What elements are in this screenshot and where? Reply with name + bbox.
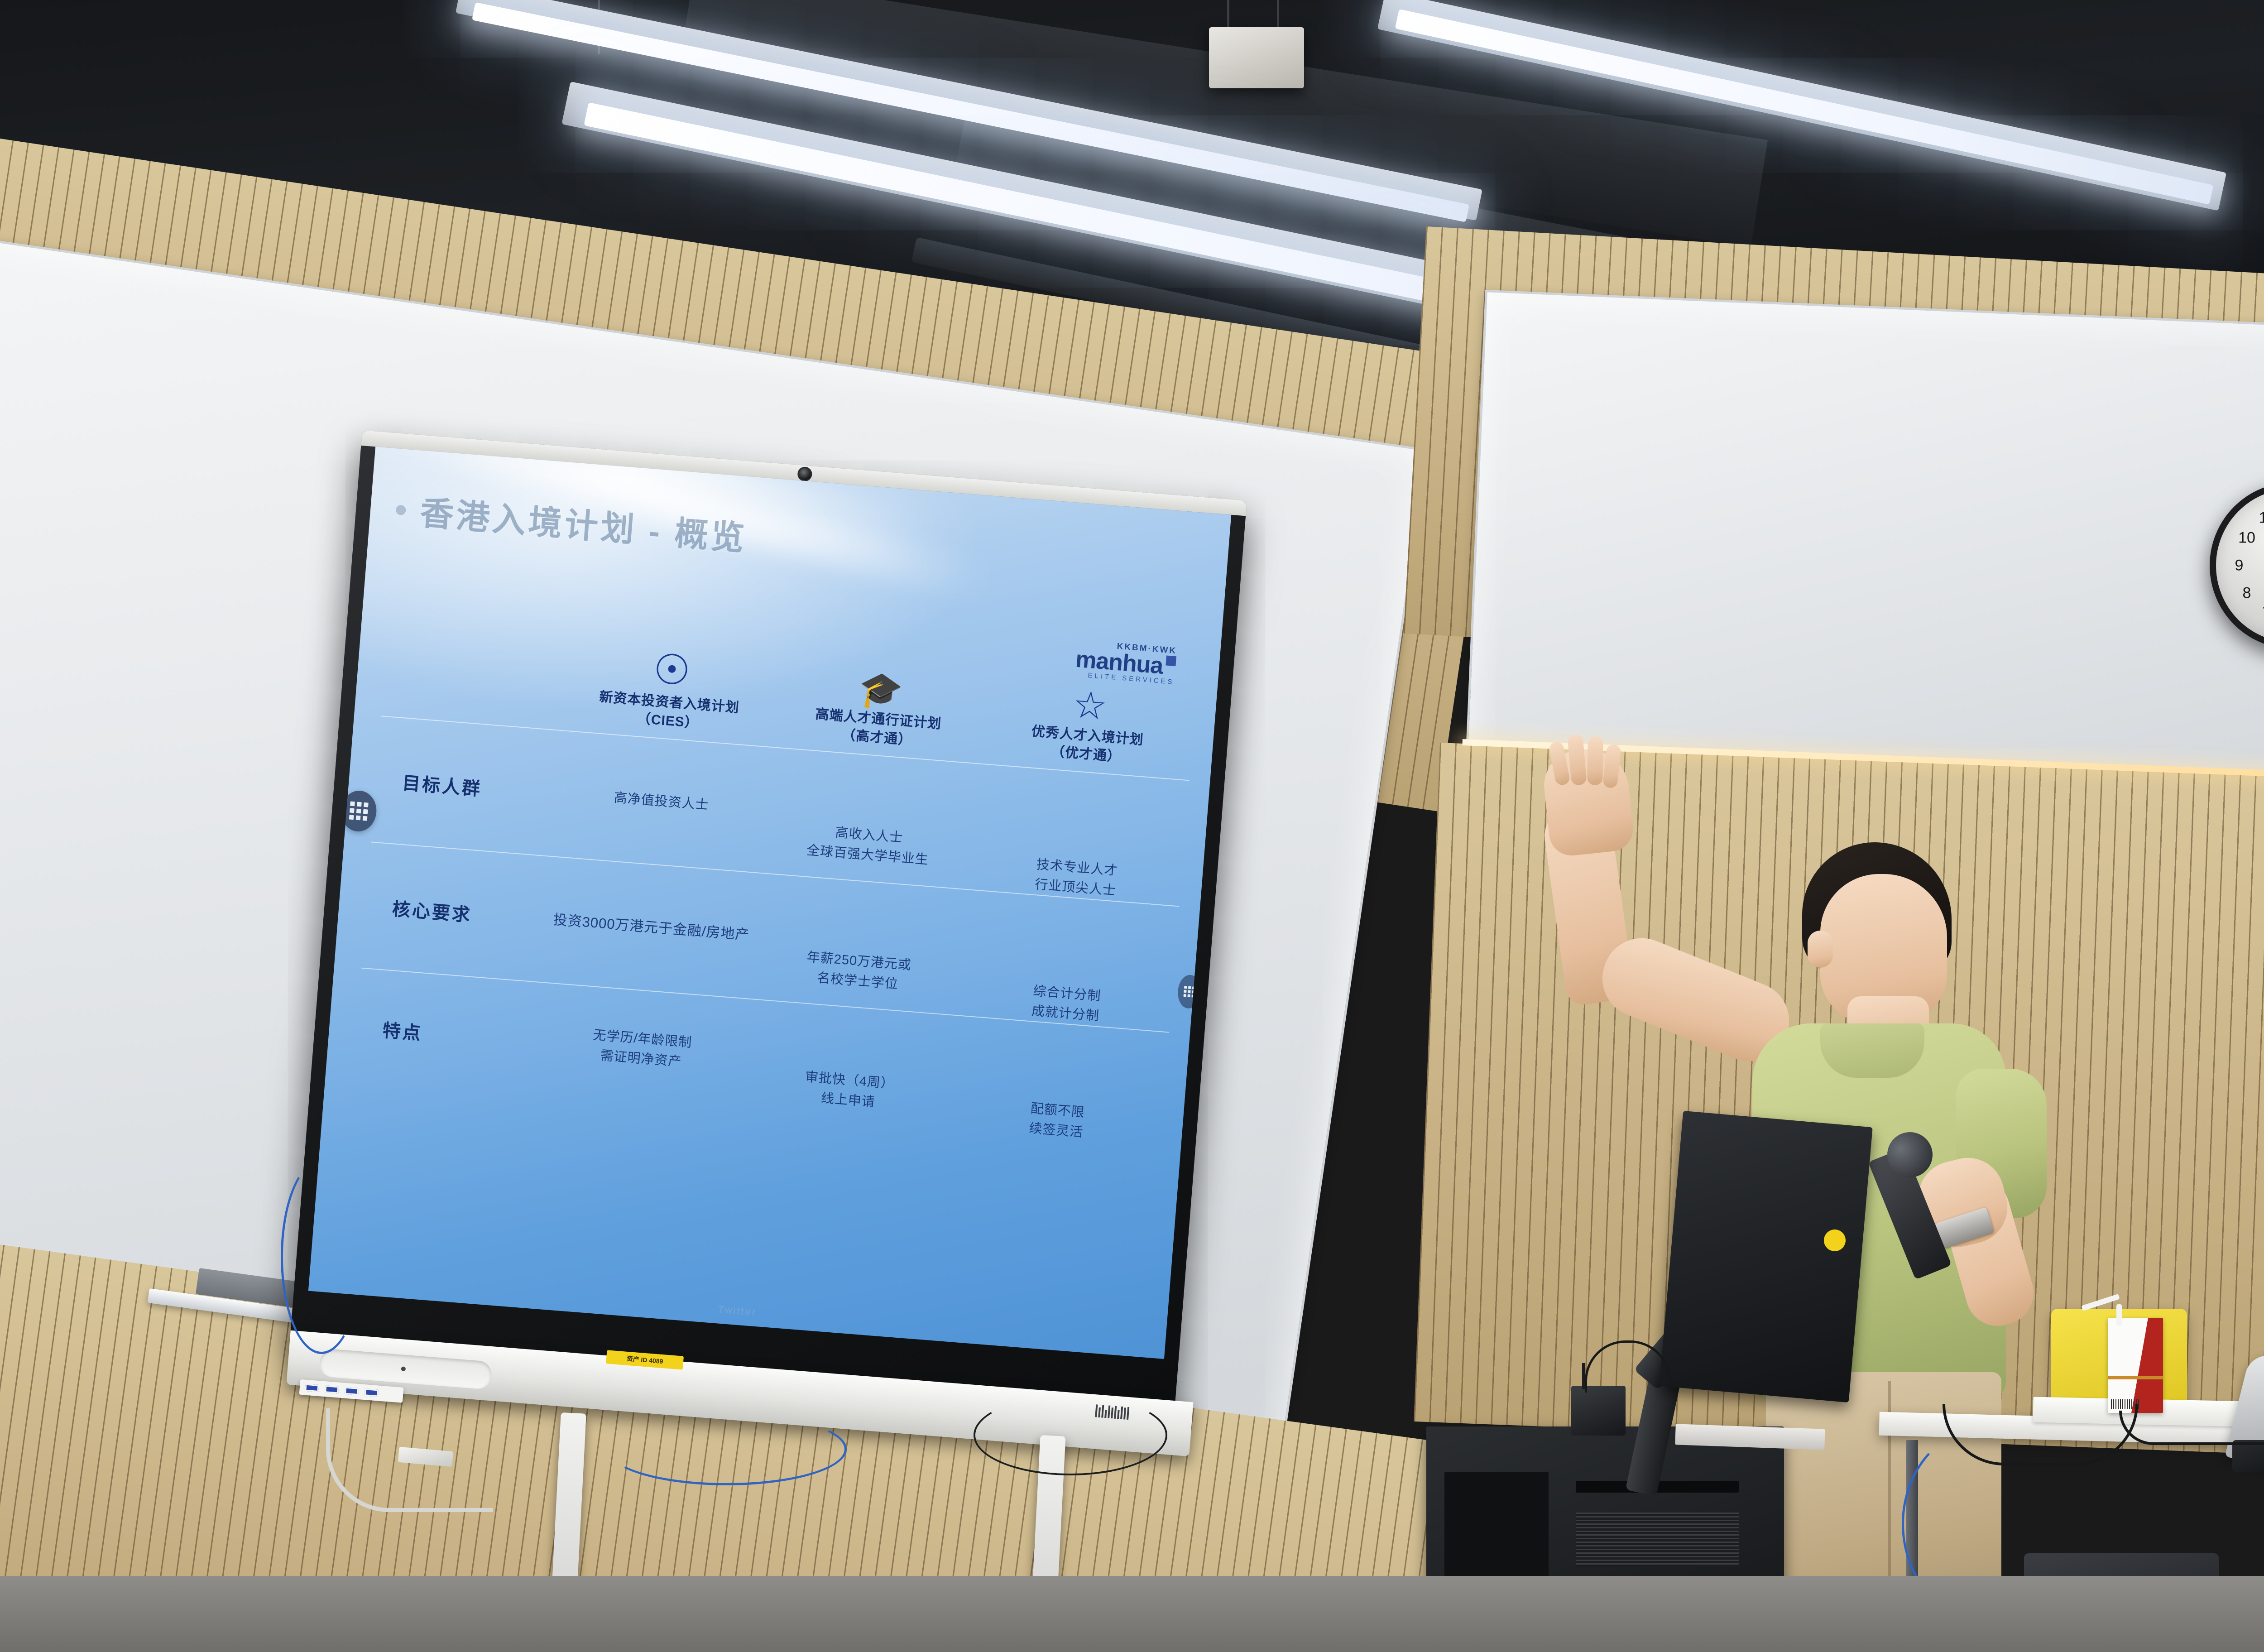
table-cell: 审批快（4周） 线上申请: [743, 1013, 959, 1119]
table-cell: 年薪250万港元或 名校学士学位: [752, 889, 969, 999]
screenshot-root: A/C 12 1 2 3 4 5 6 7 8 9 10 11 SEIKO: [0, 0, 2264, 1652]
table-cell: 高净值投资人士: [556, 783, 767, 820]
table-cell: 综合计分制 成就计分制: [960, 890, 1179, 1032]
table-column-header-top-talent: 🎓 高端人才通行证计划 （高才通）: [772, 648, 988, 755]
pc-tower-vent: [1576, 1513, 1739, 1567]
desk-cable-2: [2119, 1411, 2264, 1445]
floor-cable-loop-1: [974, 1395, 1167, 1475]
usb-port[interactable]: [325, 1385, 339, 1393]
table-cell: 无学历/年龄限制 需证明净资产: [536, 1021, 748, 1077]
usb-port[interactable]: [365, 1388, 379, 1397]
network-cable-blue-2: [607, 1413, 847, 1485]
floor: [0, 1576, 2264, 1652]
interactive-flat-panel[interactable]: 香港入境计划 - 概览 KKBM·KWK manhua ELITE SERVIC…: [284, 430, 1265, 1486]
panel-usb-port-strip[interactable]: [299, 1379, 404, 1403]
wireless-mic-beltpack: [1571, 1386, 1626, 1436]
presenter-ear: [1808, 931, 1833, 968]
table-column-header-quality-migrant: ☆ 优秀人才入境计划 （优才通）: [981, 645, 1199, 772]
slide-title: 香港入境计划 - 概览: [418, 486, 749, 560]
clock-numeral: 10: [2238, 529, 2255, 547]
table-row-label: 核心要求: [365, 892, 548, 933]
table-cell: 技术专业人才 行业顶尖人士: [970, 764, 1189, 906]
apps-grid-icon: [349, 802, 369, 821]
clock-numeral: 9: [2235, 557, 2244, 575]
clock-numeral: 8: [2243, 585, 2251, 602]
presenter-finger: [1587, 736, 1603, 786]
comparison-table: ☉ 新资本投资者入境计划 （CIES） 🎓 高端人才通行证计划 （高才通） ☆ …: [352, 598, 1199, 1149]
clock-numeral: 11: [2259, 509, 2264, 527]
network-cable-blue: [281, 1159, 362, 1354]
carton-band: [2108, 1376, 2163, 1379]
usb-port[interactable]: [305, 1384, 319, 1392]
monitor-on-arm[interactable]: [1659, 1111, 1873, 1402]
ceiling-sensor-box: [1209, 27, 1304, 88]
presenter-collar: [1820, 1023, 1924, 1078]
table-cell: 配额不限 续签灵活: [951, 1016, 1169, 1149]
drinking-straw-left-stem: [2116, 1304, 2122, 1326]
table-row-label: 目标人群: [375, 766, 558, 807]
table-cell: 投资3000万港元于金融/房地产: [546, 909, 757, 946]
monitor-yellow-sticker: [1824, 1229, 1846, 1251]
whiteboard-right: [1466, 290, 2264, 798]
title-bullet-icon: [395, 504, 406, 515]
panel-screen[interactable]: 香港入境计划 - 概览 KKBM·KWK manhua ELITE SERVIC…: [308, 447, 1231, 1359]
table-cell: 高收入人士 全球百强大学毕业生: [762, 764, 979, 874]
beverage-carton-left: [2108, 1318, 2163, 1413]
table-column-header-cies: ☉ 新资本投资者入境计划 （CIES）: [562, 641, 778, 739]
table-row-label: 特点: [355, 1013, 538, 1054]
usb-port[interactable]: [345, 1387, 359, 1395]
slide-watermark: Twitter: [718, 1303, 758, 1318]
